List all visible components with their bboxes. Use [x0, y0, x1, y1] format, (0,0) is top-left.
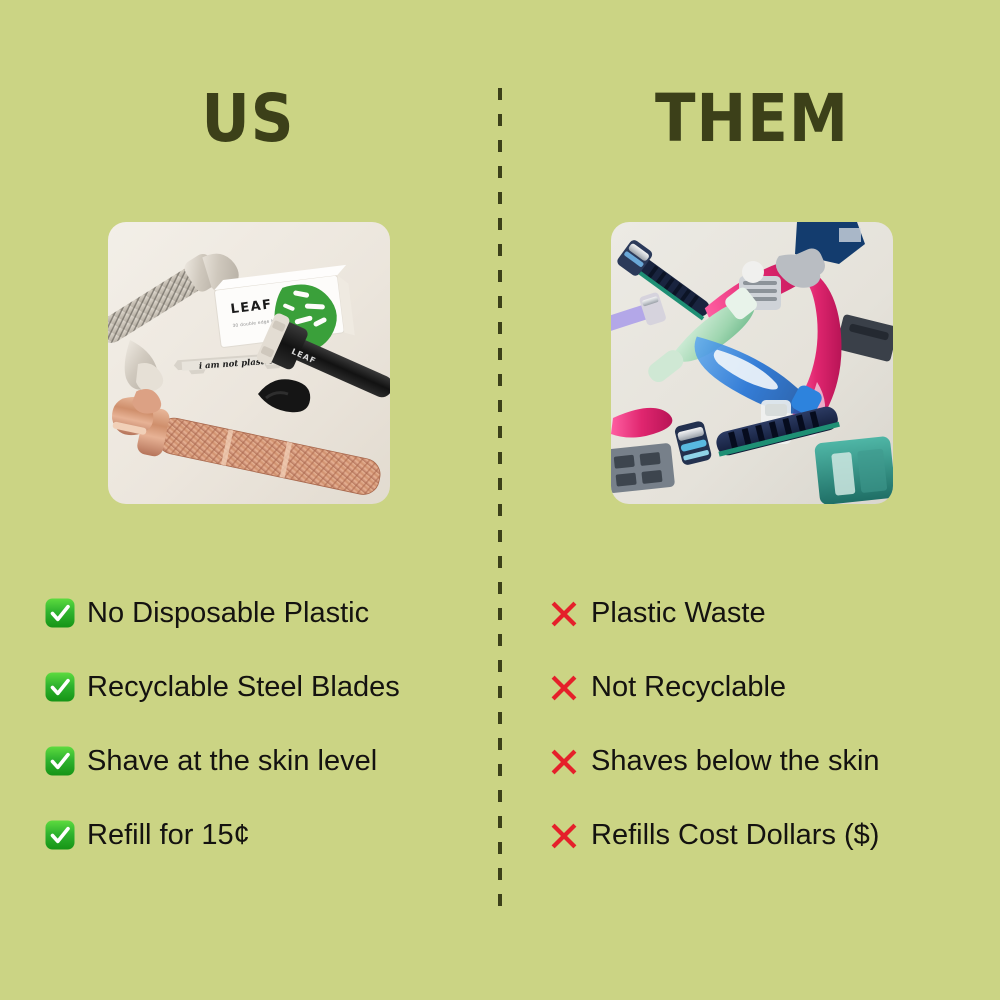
list-item: Recyclable Steel Blades	[44, 650, 484, 724]
benefits-list-us: No Disposable Plastic Recyclable Steel B…	[44, 576, 484, 872]
cross-mark-icon	[548, 819, 580, 851]
list-item-label: Recyclable Steel Blades	[87, 671, 400, 704]
list-item: Shave at the skin level	[44, 724, 484, 798]
list-item: Refill for 15¢	[44, 798, 484, 872]
list-item-label: Refill for 15¢	[87, 819, 250, 852]
vertical-dashed-divider	[498, 88, 502, 906]
list-item: Refills Cost Dollars ($)	[548, 798, 988, 872]
cross-mark-icon	[548, 597, 580, 629]
list-item-label: No Disposable Plastic	[87, 597, 369, 630]
list-item: Not Recyclable	[548, 650, 988, 724]
list-item: No Disposable Plastic	[44, 576, 484, 650]
page-title-us: US	[0, 86, 496, 152]
check-mark-icon	[44, 597, 76, 629]
list-item-label: Shave at the skin level	[87, 745, 377, 778]
list-item: Plastic Waste	[548, 576, 988, 650]
drawbacks-list-them: Plastic Waste Not Recyclable Shaves belo…	[548, 576, 988, 872]
comparison-board: US THEM	[0, 0, 1000, 1000]
check-mark-icon	[44, 819, 76, 851]
leaf-metal-razor-photo: LEAF 30 double edge blades i am not plas…	[108, 222, 390, 504]
list-item-label: Refills Cost Dollars ($)	[591, 819, 879, 852]
check-mark-icon	[44, 745, 76, 777]
list-item-label: Shaves below the skin	[591, 745, 880, 778]
disposable-plastic-razors-photo	[611, 222, 893, 504]
cross-mark-icon	[548, 671, 580, 703]
list-item-label: Not Recyclable	[591, 671, 786, 704]
list-item: Shaves below the skin	[548, 724, 988, 798]
cross-mark-icon	[548, 745, 580, 777]
page-title-them: THEM	[504, 86, 1000, 152]
check-mark-icon	[44, 671, 76, 703]
list-item-label: Plastic Waste	[591, 597, 766, 630]
